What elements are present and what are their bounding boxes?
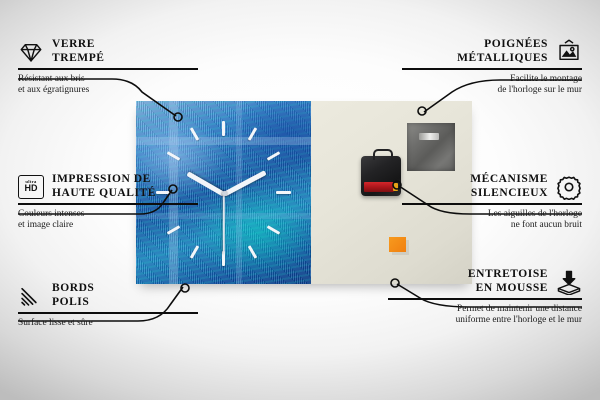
callout-impression-haute-qualite[interactable]: ultra HD IMPRESSION DE HAUTE QUALITÉ Cou… <box>18 173 198 231</box>
diamond-icon <box>18 39 44 65</box>
title-line: VERRE <box>52 38 105 52</box>
clock-tick <box>190 245 200 259</box>
callout-header: MÉCANISME SILENCIEUX <box>402 173 582 200</box>
desc-line: et image claire <box>18 220 198 231</box>
desc-line: Surface lisse et sûre <box>18 318 198 329</box>
foam-spacer <box>389 237 406 252</box>
desc-line: et aux égratignures <box>18 85 198 96</box>
foam-spacer-arrow-icon <box>556 269 582 295</box>
callout-description: Couleurs intenses et image claire <box>18 209 198 232</box>
badge-large-text: HD <box>25 184 38 194</box>
callout-poignees-metalliques[interactable]: POIGNÉES MÉTALLIQUES Facilite le montage… <box>402 38 582 96</box>
clock-mechanism <box>361 156 401 196</box>
clock-tick <box>248 245 258 259</box>
clock-hand-minute <box>223 170 267 196</box>
desc-line: Facilite le montage <box>402 74 582 85</box>
desc-line: Permet de maintenir une distance <box>388 304 582 315</box>
title-line: EN MOUSSE <box>468 282 548 296</box>
callout-entretoise-en-mousse[interactable]: ENTRETOISE EN MOUSSE Permet de maintenir… <box>388 268 582 326</box>
divider <box>18 68 198 70</box>
callout-header: ENTRETOISE EN MOUSSE <box>388 268 582 295</box>
divider <box>18 312 198 314</box>
desc-line: de l'horloge sur le mur <box>402 85 582 96</box>
gear-icon <box>556 174 582 200</box>
polished-edges-icon <box>18 283 44 309</box>
title-line: MÉTALLIQUES <box>457 52 548 66</box>
callout-description: Permet de maintenir une distance uniform… <box>388 304 582 327</box>
title-line: HAUTE QUALITÉ <box>52 187 156 201</box>
callout-description: Les aiguilles de l'horloge ne font aucun… <box>402 209 582 232</box>
desc-line: Les aiguilles de l'horloge <box>402 209 582 220</box>
desc-line: Couleurs intenses <box>18 209 198 220</box>
clock-center-pin <box>222 191 227 196</box>
callout-title: BORDS POLIS <box>52 282 94 309</box>
callout-description: Facilite le montage de l'horloge sur le … <box>402 74 582 97</box>
callout-mecanisme-silencieux[interactable]: MÉCANISME SILENCIEUX Les aiguilles de l'… <box>402 173 582 231</box>
glass-reflection-horizontal <box>136 137 311 145</box>
title-line: MÉCANISME <box>470 173 548 187</box>
callout-header: BORDS POLIS <box>18 282 198 309</box>
glass-reflection-vertical-2 <box>236 101 242 284</box>
desc-line: uniforme entre l'horloge et le mur <box>388 315 582 326</box>
title-line: BORDS <box>52 282 94 296</box>
clock-tick <box>267 225 281 235</box>
divider <box>18 203 198 205</box>
callout-title: MÉCANISME SILENCIEUX <box>470 173 548 200</box>
divider <box>402 68 582 70</box>
picture-frame-hanger-icon <box>556 39 582 65</box>
callout-title: VERRE TREMPÉ <box>52 38 105 65</box>
callout-header: ultra HD IMPRESSION DE HAUTE QUALITÉ <box>18 173 198 200</box>
callout-bords-polis[interactable]: BORDS POLIS Surface lisse et sûre <box>18 282 198 329</box>
callout-title: POIGNÉES MÉTALLIQUES <box>457 38 548 65</box>
title-line: POLIS <box>52 296 94 310</box>
clock-tick <box>276 191 291 194</box>
callout-header: VERRE TREMPÉ <box>18 38 198 65</box>
title-line: POIGNÉES <box>457 38 548 52</box>
title-line: SILENCIEUX <box>470 187 548 201</box>
clock-tick <box>222 121 225 136</box>
desc-line: Résistant aux bris <box>18 74 198 85</box>
mechanism-hook-icon <box>373 149 393 160</box>
clock-tick <box>267 151 281 161</box>
callout-description: Résistant aux bris et aux égratignures <box>18 74 198 97</box>
metal-hanger-plate <box>407 123 455 171</box>
clock-hand-second <box>223 194 225 254</box>
divider <box>402 203 582 205</box>
ultra-hd-badge-icon: ultra HD <box>18 175 44 199</box>
infographic-canvas: VERRE TREMPÉ Résistant aux bris et aux é… <box>0 0 600 400</box>
title-line: TREMPÉ <box>52 52 105 66</box>
callout-header: POIGNÉES MÉTALLIQUES <box>402 38 582 65</box>
callout-title: IMPRESSION DE HAUTE QUALITÉ <box>52 173 156 200</box>
title-line: IMPRESSION DE <box>52 173 156 187</box>
battery <box>364 182 394 192</box>
divider <box>388 298 582 300</box>
callout-description: Surface lisse et sûre <box>18 318 198 329</box>
title-line: ENTRETOISE <box>468 268 548 282</box>
callout-title: ENTRETOISE EN MOUSSE <box>468 268 548 295</box>
desc-line: ne font aucun bruit <box>402 220 582 231</box>
callout-verre-trempe[interactable]: VERRE TREMPÉ Résistant aux bris et aux é… <box>18 38 198 96</box>
